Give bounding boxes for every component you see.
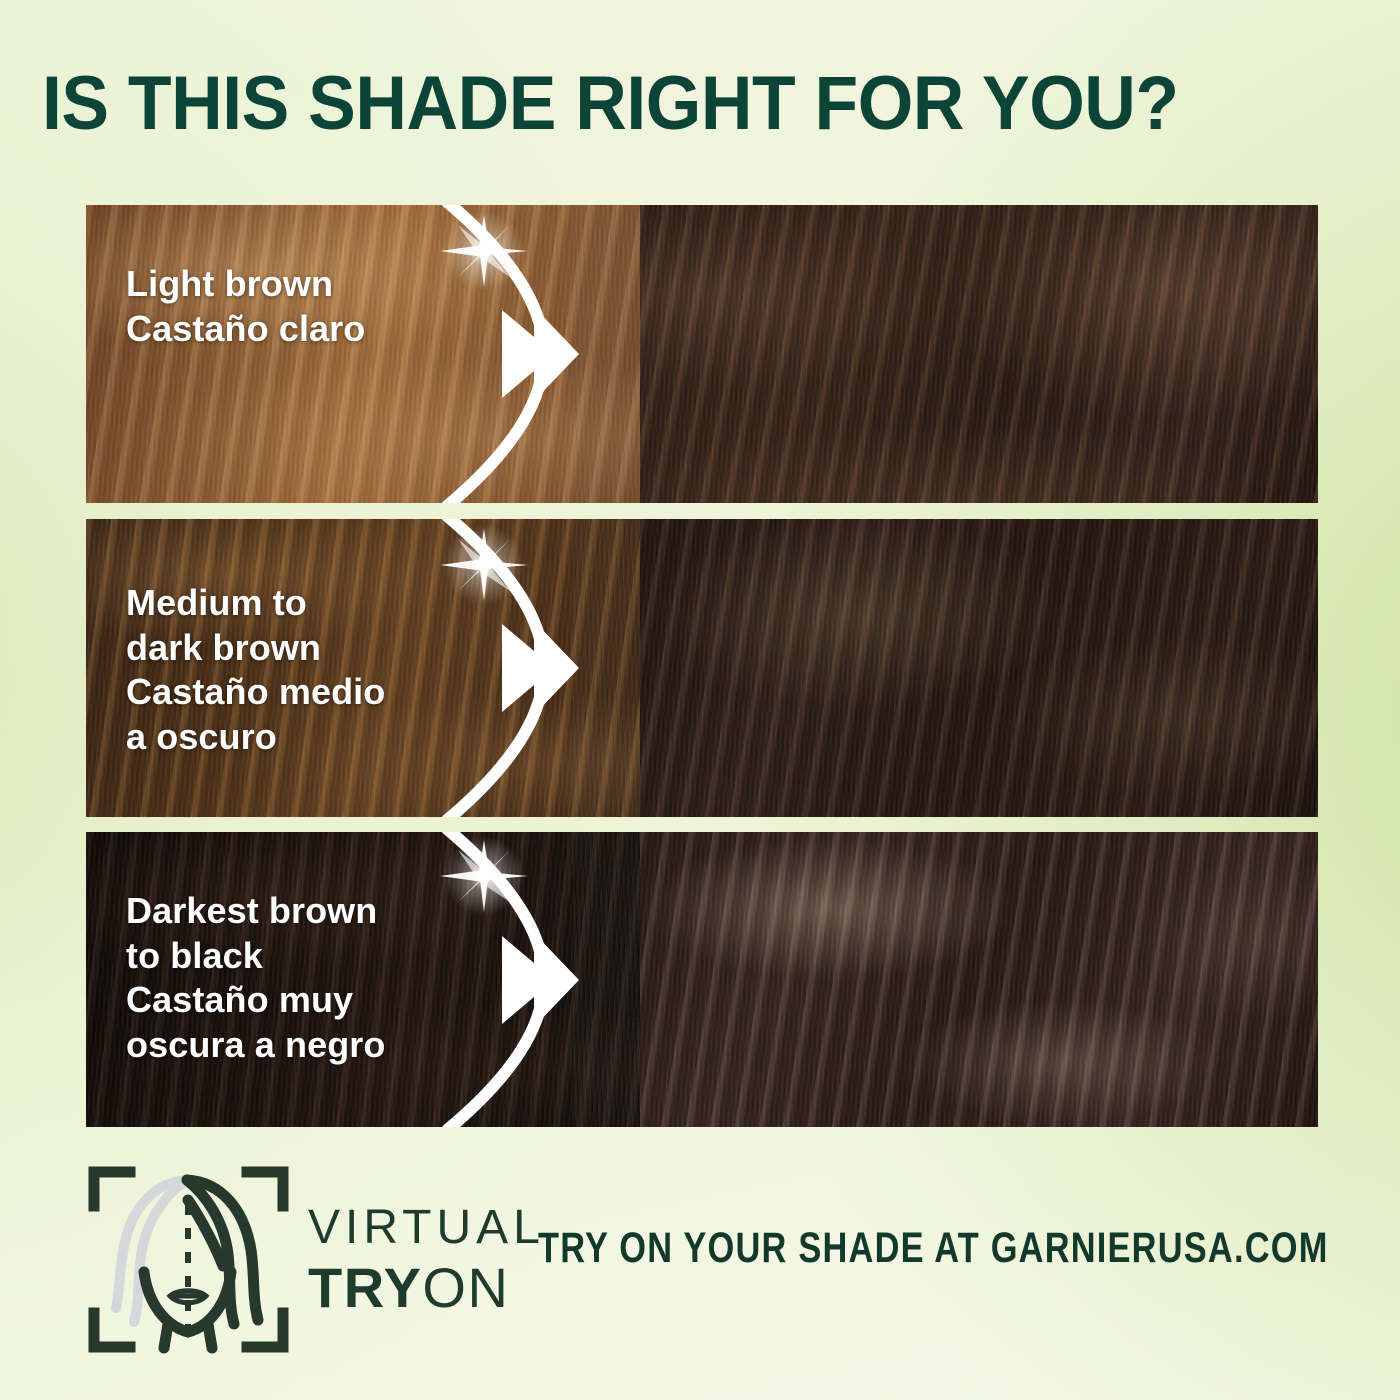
page-title: IS THIS SHADE RIGHT FOR YOU?: [42, 66, 1292, 142]
hair-sheen: [86, 205, 727, 503]
panel-caption: Darkest brown to black Castaño muy oscur…: [126, 889, 385, 1068]
bracket-bottom-left: [94, 1313, 130, 1347]
hair-sheen: [640, 519, 1318, 817]
bracket-top-left: [94, 1172, 130, 1206]
hair-strand-texture: [573, 519, 1318, 817]
shade-guide-page: IS THIS SHADE RIGHT FOR YOU?: [0, 0, 1400, 1400]
hair-strand-texture: [573, 205, 1318, 503]
hair-swatch-after: [640, 519, 1318, 817]
hair-strand-texture: [573, 832, 1318, 1127]
shade-panel-light-brown[interactable]: Light brown Castaño claro: [86, 205, 1318, 503]
wordmark-on: ON: [422, 1256, 509, 1319]
virtual-try-on-wordmark[interactable]: VIRTUAL TRYON: [308, 1204, 545, 1316]
hair-swatch-before: [86, 205, 727, 503]
shade-panel-darkest-brown-black[interactable]: Darkest brown to black Castaño muy oscur…: [86, 832, 1318, 1127]
wordmark-try: TRY: [308, 1256, 422, 1319]
footer: VIRTUAL TRYON TRY ON YOUR SHADE AT GARNI…: [86, 1162, 1326, 1362]
hair-swatch-after: [640, 832, 1318, 1127]
wordmark-tryon: TRYON: [308, 1260, 545, 1316]
bracket-top-right: [247, 1172, 283, 1206]
panel-caption: Medium to dark brown Castaño medio a osc…: [126, 581, 385, 760]
hair-sheen: [640, 205, 1318, 503]
wordmark-virtual: VIRTUAL: [308, 1204, 545, 1252]
hair-sheen: [640, 832, 1318, 1127]
footer-tagline: TRY ON YOUR SHADE AT GARNIERUSA.COM: [538, 1224, 1329, 1273]
panel-caption: Light brown Castaño claro: [126, 262, 365, 351]
virtual-try-on-face-scan-icon[interactable]: [86, 1162, 291, 1357]
shade-panel-medium-dark-brown[interactable]: Medium to dark brown Castaño medio a osc…: [86, 519, 1318, 817]
hair-swatch-after: [640, 205, 1318, 503]
